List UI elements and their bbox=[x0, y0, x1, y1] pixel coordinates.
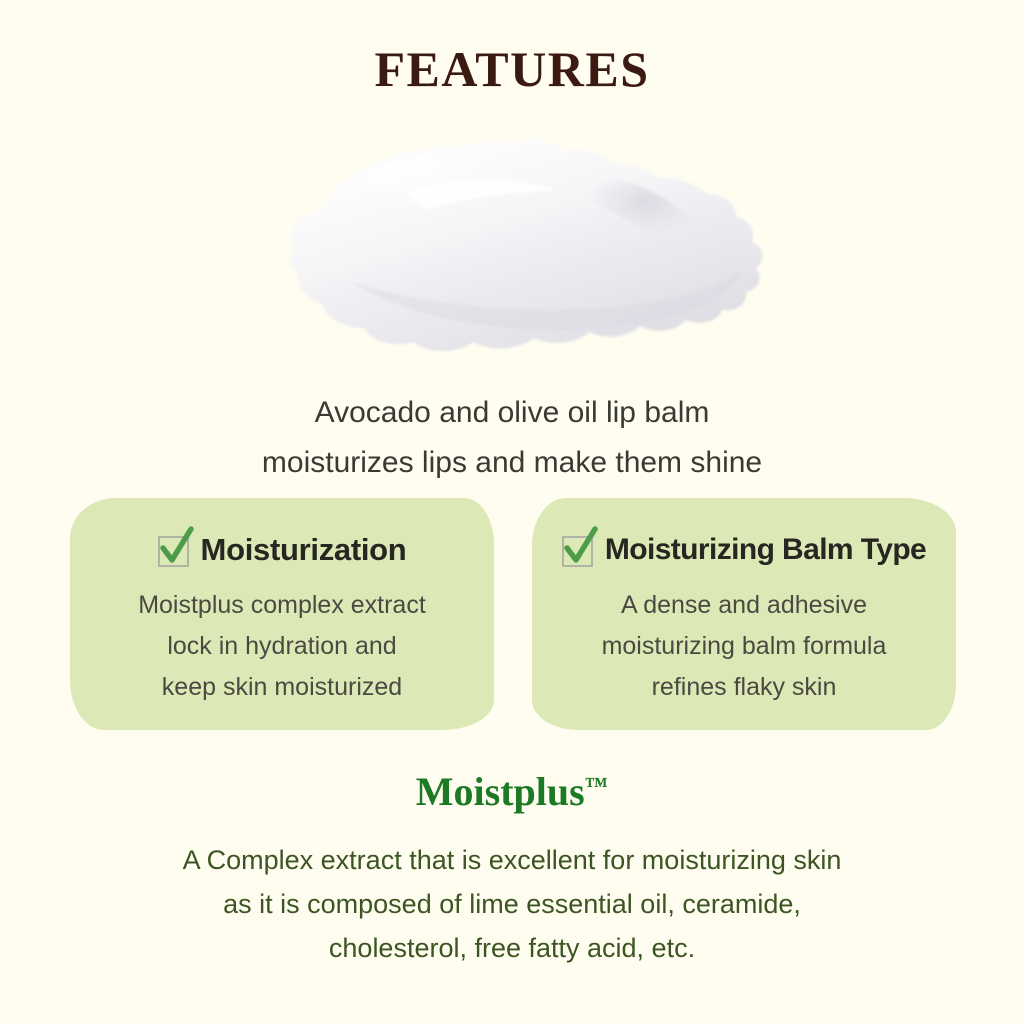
card-body-line: Moistplus complex extract bbox=[70, 585, 494, 626]
card-body: Moistplus complex extract lock in hydrat… bbox=[70, 585, 494, 708]
feature-card-moisturization: Moisturization Moistplus complex extract… bbox=[70, 498, 494, 730]
hero-subtitle: Avocado and olive oil lip balm moisturiz… bbox=[0, 388, 1024, 488]
feature-cards: Moisturization Moistplus complex extract… bbox=[70, 498, 956, 730]
card-body: A dense and adhesive moisturizing balm f… bbox=[532, 585, 956, 708]
card-heading-row: Moisturizing Balm Type bbox=[532, 524, 956, 576]
brand-text: Moistplus bbox=[416, 769, 585, 814]
brand-name: Moistplus™ bbox=[0, 770, 1024, 814]
trademark-symbol: ™ bbox=[585, 773, 609, 798]
card-body-line: keep skin moisturized bbox=[70, 667, 494, 708]
cream-swatch-image bbox=[256, 132, 776, 380]
card-title: Moisturizing Balm Type bbox=[605, 533, 926, 567]
subtitle-line-1: Avocado and olive oil lip balm bbox=[0, 388, 1024, 438]
card-body-line: A dense and adhesive bbox=[532, 585, 956, 626]
card-body-line: moisturizing balm formula bbox=[532, 626, 956, 667]
feature-card-moisturizing-balm-type: Moisturizing Balm Type A dense and adhes… bbox=[532, 498, 956, 730]
card-body-line: refines flaky skin bbox=[532, 667, 956, 708]
checkbox-checked-icon bbox=[562, 533, 596, 567]
description-line: cholesterol, free fatty acid, etc. bbox=[0, 926, 1024, 970]
brand-description: A Complex extract that is excellent for … bbox=[0, 838, 1024, 970]
page-title: FEATURES bbox=[0, 44, 1024, 94]
card-title: Moisturization bbox=[201, 532, 407, 568]
description-line: as it is composed of lime essential oil,… bbox=[0, 882, 1024, 926]
description-line: A Complex extract that is excellent for … bbox=[0, 838, 1024, 882]
features-page: FEATURES bbox=[0, 0, 1024, 1024]
checkbox-checked-icon bbox=[158, 533, 192, 567]
card-body-line: lock in hydration and bbox=[70, 626, 494, 667]
subtitle-line-2: moisturizes lips and make them shine bbox=[0, 438, 1024, 488]
card-heading-row: Moisturization bbox=[70, 524, 494, 576]
